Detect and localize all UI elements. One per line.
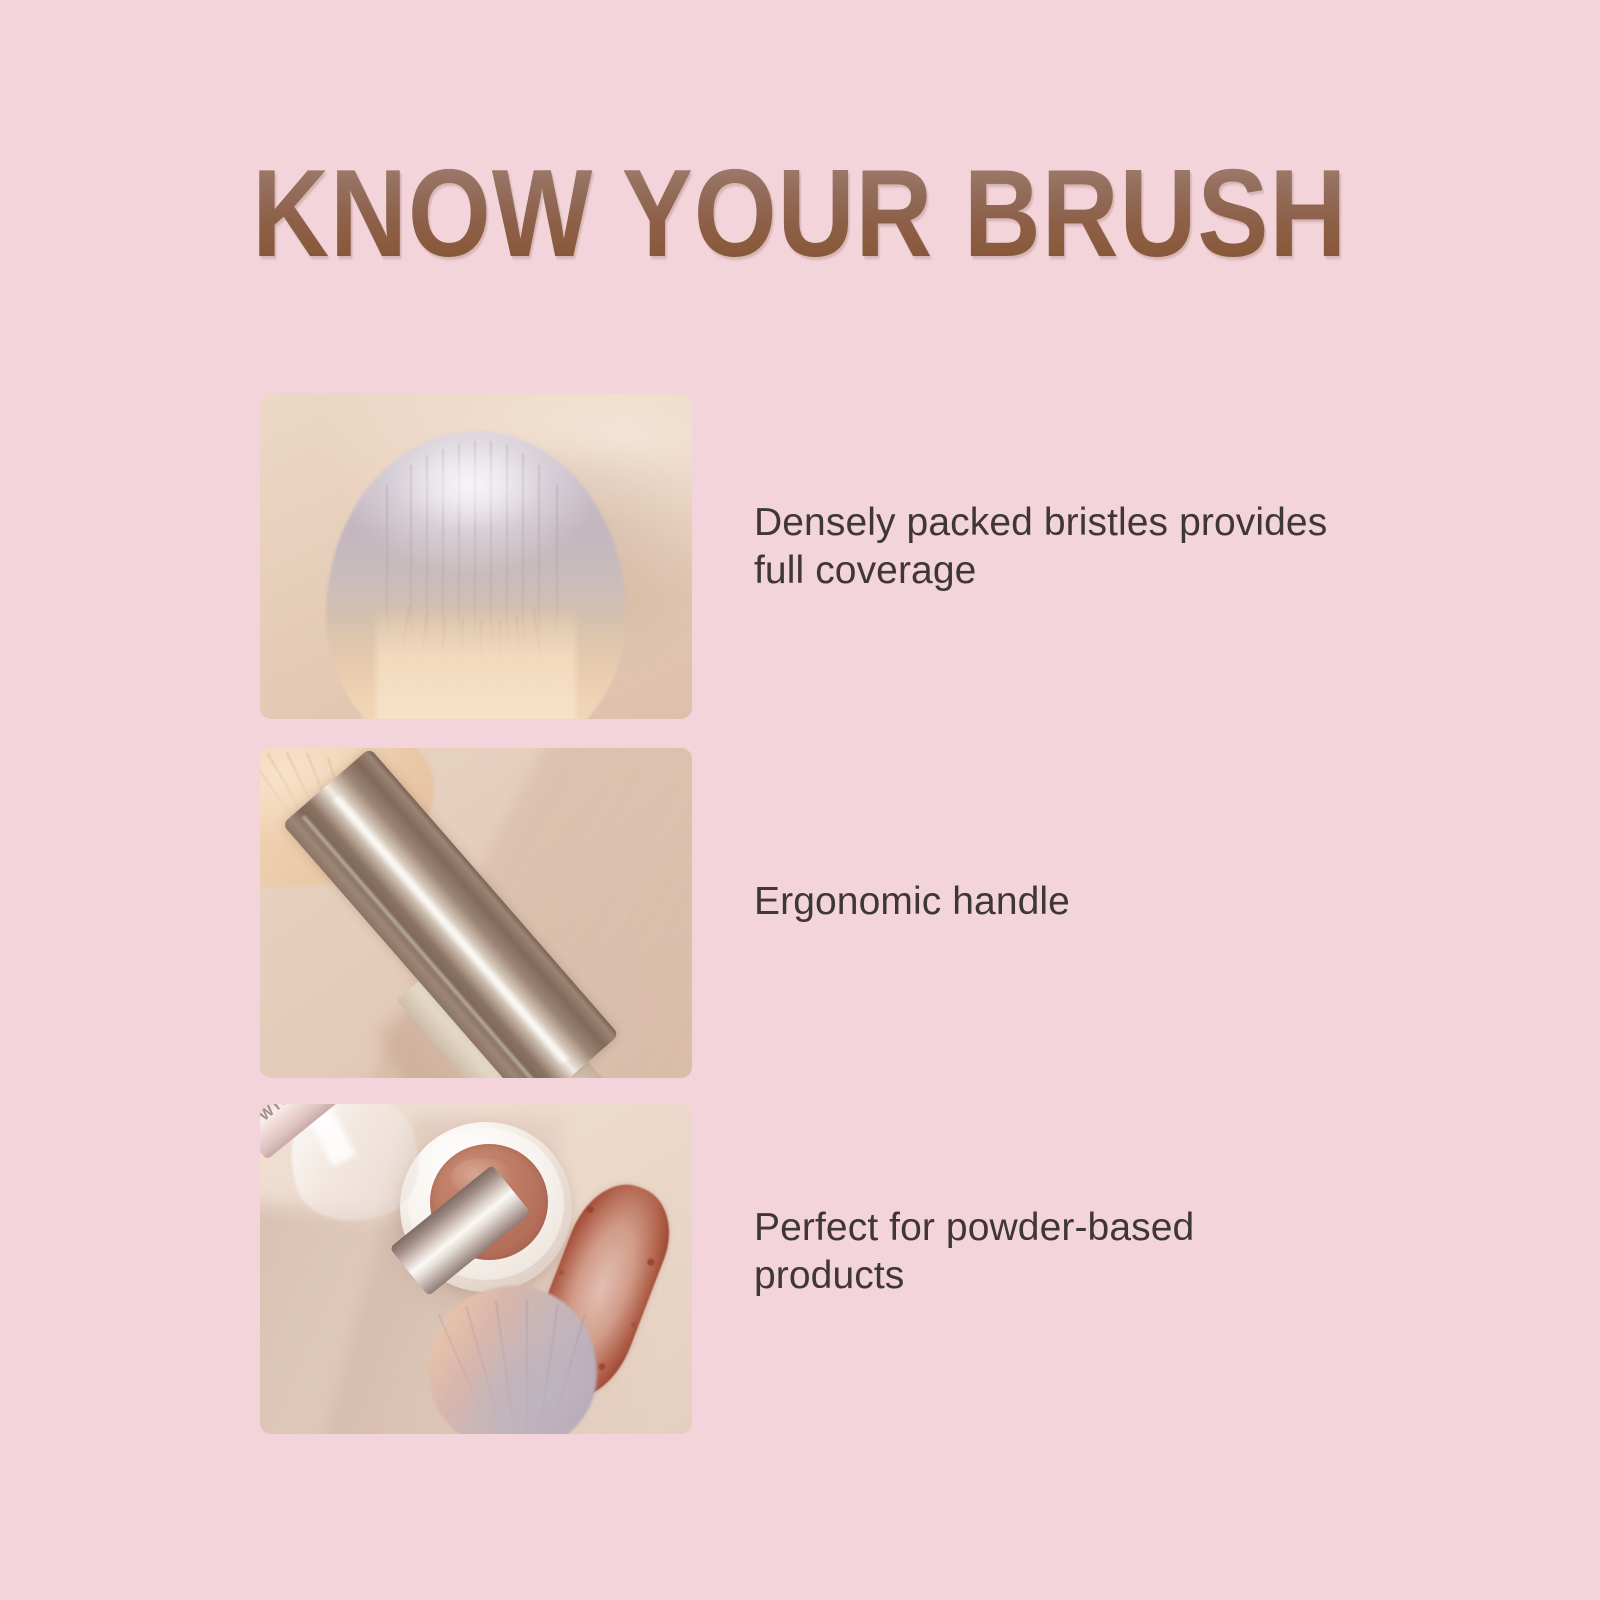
bristle-strand (526, 1300, 528, 1432)
feature-caption-powder: Perfect for powder-based products (754, 1204, 1354, 1300)
page-title: KNOW YOUR BRUSH (0, 152, 1600, 276)
bristle-fan-base (376, 605, 576, 719)
powder-products-photo: SWISS BEAUTY (260, 1104, 692, 1434)
brush-handle-photo (260, 748, 692, 1078)
know-your-brush-infographic: KNOW YOUR BRUSH (0, 0, 1600, 1600)
brush-head-closeup-photo (260, 393, 692, 719)
feature-caption-handle: Ergonomic handle (754, 878, 1354, 926)
photo-highlight (396, 439, 546, 529)
feature-caption-bristles: Densely packed bristles provides full co… (754, 499, 1354, 595)
page-title-text: KNOW YOUR BRUSH (252, 152, 1347, 276)
